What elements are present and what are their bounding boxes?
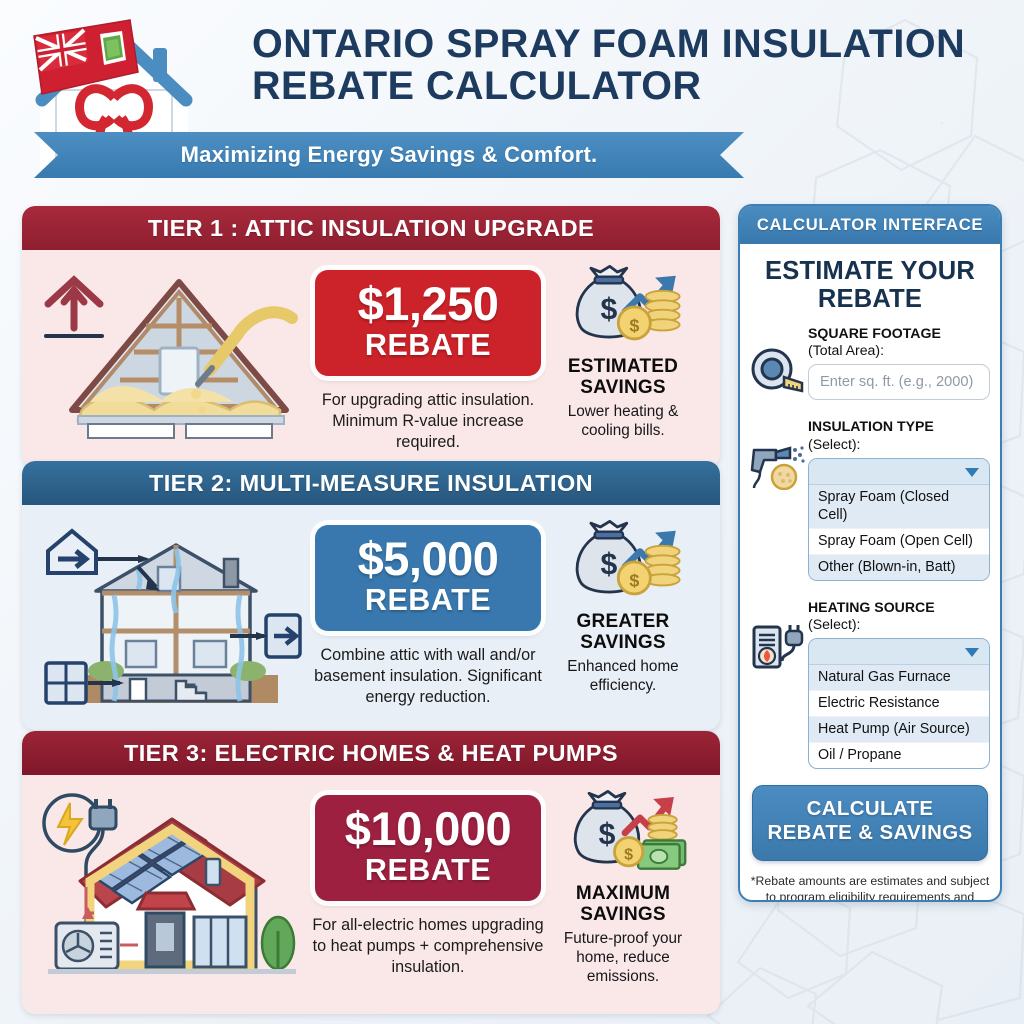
tier-1-heading: TIER 1 : ATTIC INSULATION UPGRADE [22,206,720,250]
calculator-panel-header: CALCULATOR INTERFACE [740,206,1000,244]
heating-option-2[interactable]: Heat Pump (Air Source) [809,717,989,743]
svg-text:$: $ [600,293,617,326]
insulation-option-1[interactable]: Spray Foam (Open Cell) [809,529,989,555]
heating-option-0[interactable]: Natural Gas Furnace [809,665,989,691]
tier-2-heading: TIER 2: MULTI-MEASURE INSULATION [22,461,720,505]
heating-source-label-rest: (Select): [808,616,860,632]
insulation-type-field: INSULATION TYPE (Select): Spray Foam (Cl… [750,418,990,580]
tier-card-2: TIER 2: MULTI-MEASURE INSULATION [22,461,720,730]
tier-2-amount: $5,000 [321,536,535,582]
insulation-option-2[interactable]: Other (Blown-in, Batt) [809,555,989,580]
spray-gun-foam-icon [750,442,806,490]
tier-3-rebate-badge: $10,000 REBATE [315,795,541,901]
insulation-type-label-rest: (Select): [808,436,860,452]
calculate-button-line-1: CALCULATE [757,798,983,822]
tape-measure-icon [750,347,806,395]
calculator-title: ESTIMATE YOUR REBATE [748,258,992,313]
square-footage-input[interactable]: Enter sq. ft. (e.g., 2000) [808,364,990,400]
page-title: ONTARIO SPRAY FOAM INSULATION REBATE CAL… [252,24,998,108]
svg-text:$: $ [624,845,633,863]
insulation-option-0[interactable]: Spray Foam (Closed Cell) [809,485,989,529]
tier-3-savings-title: MAXIMUM SAVINGS [554,884,692,926]
square-footage-label-bold: SQUARE FOOTAGE [808,325,941,341]
tier-1-illustration [34,260,304,445]
tier-3-savings-sub: Future-proof your home, reduce emissions… [554,929,692,987]
tier-2-savings-title: GREATER SAVINGS [554,612,692,654]
up-arrow-roof-icon [46,280,102,336]
tier-3-heading: TIER 3: ELECTRIC HOMES & HEAT PUMPS [22,731,720,775]
insulation-type-label-bold: INSULATION TYPE [808,418,934,434]
tier-2-rebate-word: REBATE [321,583,535,618]
tier-1-amount: $1,250 [321,281,535,327]
heating-source-label-bold: HEATING SOURCE [808,599,935,615]
chevron-down-icon [965,468,979,477]
insulation-type-label: INSULATION TYPE (Select): [808,418,990,452]
tier-3-illustration [34,785,304,1000]
money-bag-coins-up-arrow-icon: $ $ [557,517,689,603]
tier-3-description: For all-electric homes upgrading to heat… [310,915,546,978]
tier-2-illustration [34,515,304,716]
furnace-plug-flame-icon [750,623,806,671]
square-footage-placeholder: Enter sq. ft. (e.g., 2000) [820,374,973,390]
square-footage-label: SQUARE FOOTAGE (Total Area): [808,325,990,359]
tier-2-savings-sub: Enhanced home efficiency. [554,657,692,696]
heating-source-field: HEATING SOURCE (Select): Natural Gas Fur… [750,599,990,769]
svg-text:$: $ [629,570,639,590]
money-bag-coins-up-arrow-icon: $ $ [557,262,689,348]
house-arrow-icon [48,531,96,573]
tier-3-amount: $10,000 [321,806,535,852]
tier-1-savings-title: ESTIMATED SAVINGS [554,357,692,399]
disclaimer-text: *Rebate amounts are estimates and subjec… [750,873,990,903]
calculate-button-line-2: REBATE & SAVINGS [757,822,983,846]
square-footage-field: SQUARE FOOTAGE (Total Area): Enter sq. f… [750,325,990,400]
calculate-rebate-button[interactable]: CALCULATE REBATE & SAVINGS [752,785,988,860]
tier-3-rebate-word: REBATE [321,853,535,888]
tier-1-rebate-word: REBATE [321,328,535,363]
square-footage-label-rest: (Total Area): [808,342,884,358]
svg-text:$: $ [599,818,616,851]
heating-source-select[interactable]: Natural Gas Furnace Electric Resistance … [808,638,990,769]
ribbon-text: Maximizing Energy Savings & Comfort. [34,130,744,180]
infographic-page: ONTARIO SPRAY FOAM INSULATION REBATE CAL… [0,0,1024,1024]
tier-1-rebate-badge: $1,250 REBATE [315,270,541,376]
insulation-type-select[interactable]: Spray Foam (Closed Cell) Spray Foam (Ope… [808,458,990,581]
title-line-2: REBATE CALCULATOR [252,66,998,108]
heating-source-select-head[interactable] [809,639,989,665]
chevron-down-icon [965,648,979,657]
insulation-type-select-head[interactable] [809,459,989,485]
tier-card-1: TIER 1 : ATTIC INSULATION UPGRADE [22,206,720,467]
calculator-panel: CALCULATOR INTERFACE ESTIMATE YOUR REBAT… [738,204,1002,902]
tier-1-savings-sub: Lower heating & cooling bills. [554,402,692,441]
tier-1-description: For upgrading attic insulation. Minimum … [310,390,546,453]
svg-text:$: $ [629,315,639,335]
heating-option-3[interactable]: Oil / Propane [809,743,989,768]
svg-text:$: $ [600,548,617,581]
title-line-1: ONTARIO SPRAY FOAM INSULATION [252,24,998,66]
tier-2-description: Combine attic with wall and/or basement … [310,645,546,708]
tier-card-3: TIER 3: ELECTRIC HOMES & HEAT PUMPS [22,731,720,1014]
heating-source-label: HEATING SOURCE (Select): [808,599,990,633]
money-bag-cash-coins-up-arrow-icon: $ $ [557,787,689,875]
heating-option-1[interactable]: Electric Resistance [809,691,989,717]
tier-2-rebate-badge: $5,000 REBATE [315,525,541,631]
subtitle-ribbon: Maximizing Energy Savings & Comfort. [34,130,744,180]
page-header: ONTARIO SPRAY FOAM INSULATION REBATE CAL… [0,0,1024,196]
